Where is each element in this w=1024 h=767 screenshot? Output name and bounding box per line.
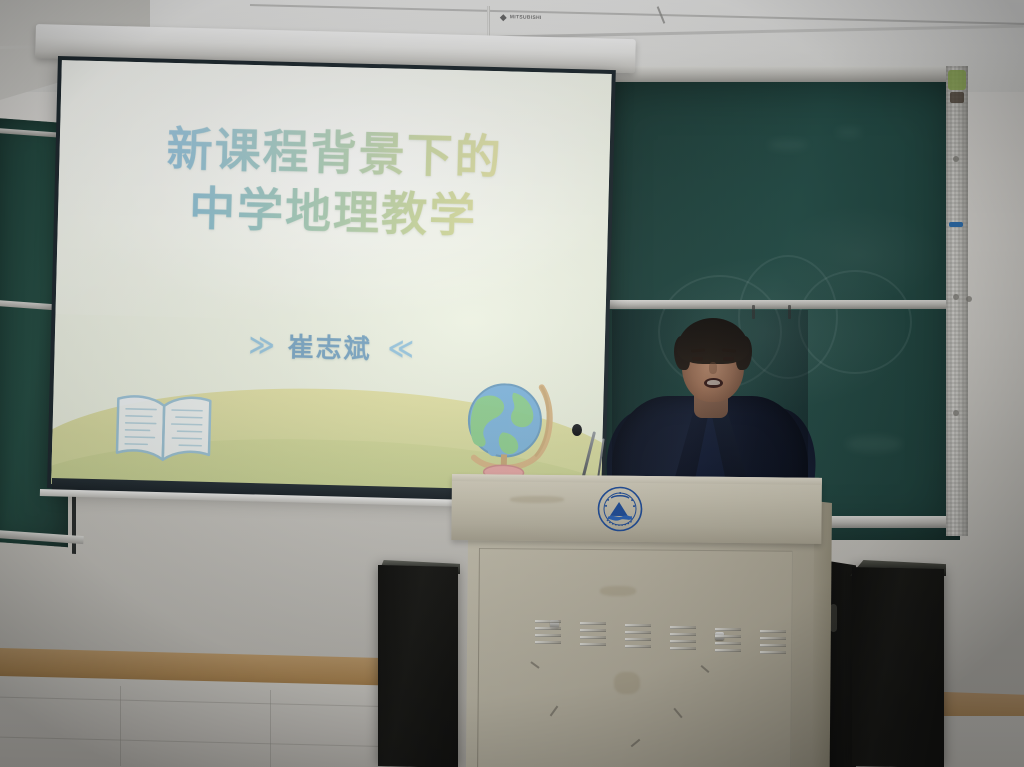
globe-icon <box>453 369 560 484</box>
podium-vent <box>625 624 651 650</box>
hair <box>677 318 749 364</box>
projector-brand-logo: ◆ MITSUBISHI <box>500 11 574 25</box>
open-book-icon <box>107 390 221 467</box>
podium-vent <box>535 620 561 646</box>
chalk-residue <box>798 270 912 374</box>
blackboard-right-top-rail <box>594 66 966 82</box>
chevron-right-icon: ≫ <box>248 330 272 360</box>
podium-scuff <box>600 586 636 596</box>
rail-screw <box>953 156 959 162</box>
rail-screw <box>953 410 959 416</box>
blackboard-right-vertical-rail <box>946 66 968 536</box>
speaker-tower-right <box>852 567 944 767</box>
podium-vent <box>715 628 741 654</box>
slide-title: 新课程背景下的 中学地理教学 <box>57 117 610 249</box>
projection-screen-frame: 新课程背景下的 中学地理教学 ≫ 崔志斌 ≪ <box>47 56 616 502</box>
blackboard-right-mid-rail <box>598 300 960 309</box>
floor-left <box>0 676 440 767</box>
chalk-smudge <box>768 140 808 150</box>
projection-screen-surface[interactable]: 新课程背景下的 中学地理教学 ≫ 崔志斌 ≪ <box>51 60 612 498</box>
nose <box>709 362 717 374</box>
mouth-inner <box>707 380 720 385</box>
podium-vent <box>580 622 606 648</box>
brand-label: MITSUBISHI <box>510 14 542 21</box>
speaker-tower-left <box>378 565 458 767</box>
rail-green-object <box>948 70 966 90</box>
lecture-hall-scene: ◆ MITSUBISHI 新课程背景下的 中学地理教学 ≫ 崔志斌 ≪ <box>0 0 1024 767</box>
chalk-smudge <box>836 128 862 137</box>
podium-vent <box>670 626 696 652</box>
podium-vent <box>760 630 786 656</box>
presentation-slide: 新课程背景下的 中学地理教学 ≫ 崔志斌 ≪ <box>51 60 612 498</box>
chalk-smudge <box>846 436 902 452</box>
eye-right <box>723 357 734 361</box>
rail-blue-clip <box>949 222 963 227</box>
university-crest-icon <box>597 486 643 532</box>
triple-diamond-icon: ◆ <box>500 12 507 21</box>
chevron-left-icon: ≪ <box>387 333 411 363</box>
rail-screw <box>966 296 972 302</box>
floor-tile-line <box>120 686 121 766</box>
podium-scuff <box>614 672 640 694</box>
rail-screw <box>953 294 959 300</box>
slide-presenter-row: ≫ 崔志斌 ≪ <box>54 321 605 372</box>
slide-title-line-2: 中学地理教学 <box>57 176 608 249</box>
rail-dark-object <box>950 92 964 103</box>
podium-scuff <box>510 496 564 503</box>
slide-presenter-name: 崔志斌 <box>287 327 372 366</box>
lectern-microphone-head[interactable] <box>572 424 582 436</box>
floor-tile-line <box>270 690 271 767</box>
eye-left <box>692 357 703 361</box>
podium-cabinet-door[interactable] <box>477 548 793 767</box>
